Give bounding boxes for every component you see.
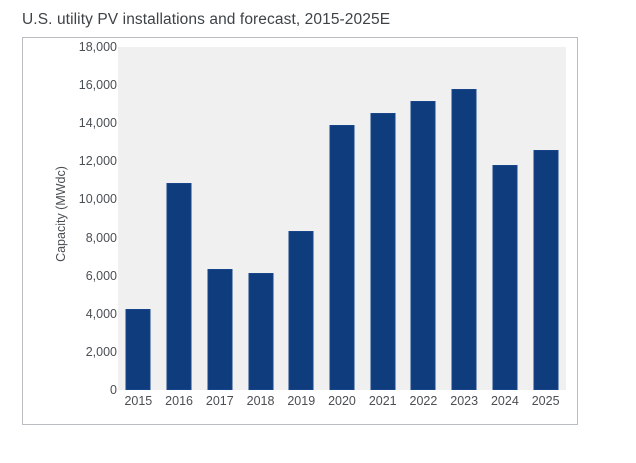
bar-slot (159, 47, 200, 390)
chart-page: U.S. utility PV installations and foreca… (0, 0, 636, 463)
bar-2016[interactable] (167, 183, 192, 390)
x-axis-tick-label: 2017 (199, 394, 240, 408)
y-axis-tick-label: 10,000 (63, 192, 117, 206)
bar-2021[interactable] (370, 113, 395, 390)
bar-slot (485, 47, 526, 390)
y-axis-tick-label: 14,000 (63, 116, 117, 130)
bar-slot (240, 47, 281, 390)
bar-2020[interactable] (329, 125, 354, 390)
y-axis-tick-label: 8,000 (63, 231, 117, 245)
x-axis-tick-label: 2015 (118, 394, 159, 408)
x-axis-tick-label: 2018 (240, 394, 281, 408)
bar-slot (525, 47, 566, 390)
bar-slot (444, 47, 485, 390)
bar-slot (199, 47, 240, 390)
bar-2022[interactable] (411, 101, 436, 390)
x-axis-tick-label: 2019 (281, 394, 322, 408)
chart-frame: Capacity (MWdc) 02,0004,0006,0008,00010,… (22, 37, 578, 425)
x-axis-tick-label: 2020 (322, 394, 363, 408)
x-axis-tick-label: 2024 (485, 394, 526, 408)
y-axis-tick-label: 0 (63, 383, 117, 397)
bar-slot (322, 47, 363, 390)
bar-slot (362, 47, 403, 390)
bar-2023[interactable] (452, 89, 477, 390)
y-axis-tick-label: 12,000 (63, 154, 117, 168)
y-axis-tick-label: 2,000 (63, 345, 117, 359)
x-axis-ticks: 2015201620172018201920202021202220232024… (118, 394, 566, 416)
bar-2019[interactable] (289, 231, 314, 390)
x-axis-tick-label: 2025 (525, 394, 566, 408)
bar-2017[interactable] (207, 269, 232, 390)
y-axis-ticks: 02,0004,0006,0008,00010,00012,00014,0001… (63, 38, 117, 390)
bar-slot (403, 47, 444, 390)
bar-slot (281, 47, 322, 390)
x-axis-tick-label: 2023 (444, 394, 485, 408)
bar-2015[interactable] (126, 309, 151, 390)
bar-2024[interactable] (492, 165, 517, 390)
x-axis-tick-label: 2016 (159, 394, 200, 408)
page-title: U.S. utility PV installations and foreca… (22, 11, 390, 29)
bar-2018[interactable] (248, 273, 273, 390)
bars-layer (118, 47, 566, 390)
y-axis-tick-label: 6,000 (63, 269, 117, 283)
x-axis-tick-label: 2021 (362, 394, 403, 408)
bar-slot (118, 47, 159, 390)
y-axis-tick-label: 16,000 (63, 78, 117, 92)
y-axis-tick-label: 18,000 (63, 40, 117, 54)
bar-2025[interactable] (533, 150, 558, 390)
y-axis-tick-label: 4,000 (63, 307, 117, 321)
x-axis-tick-label: 2022 (403, 394, 444, 408)
